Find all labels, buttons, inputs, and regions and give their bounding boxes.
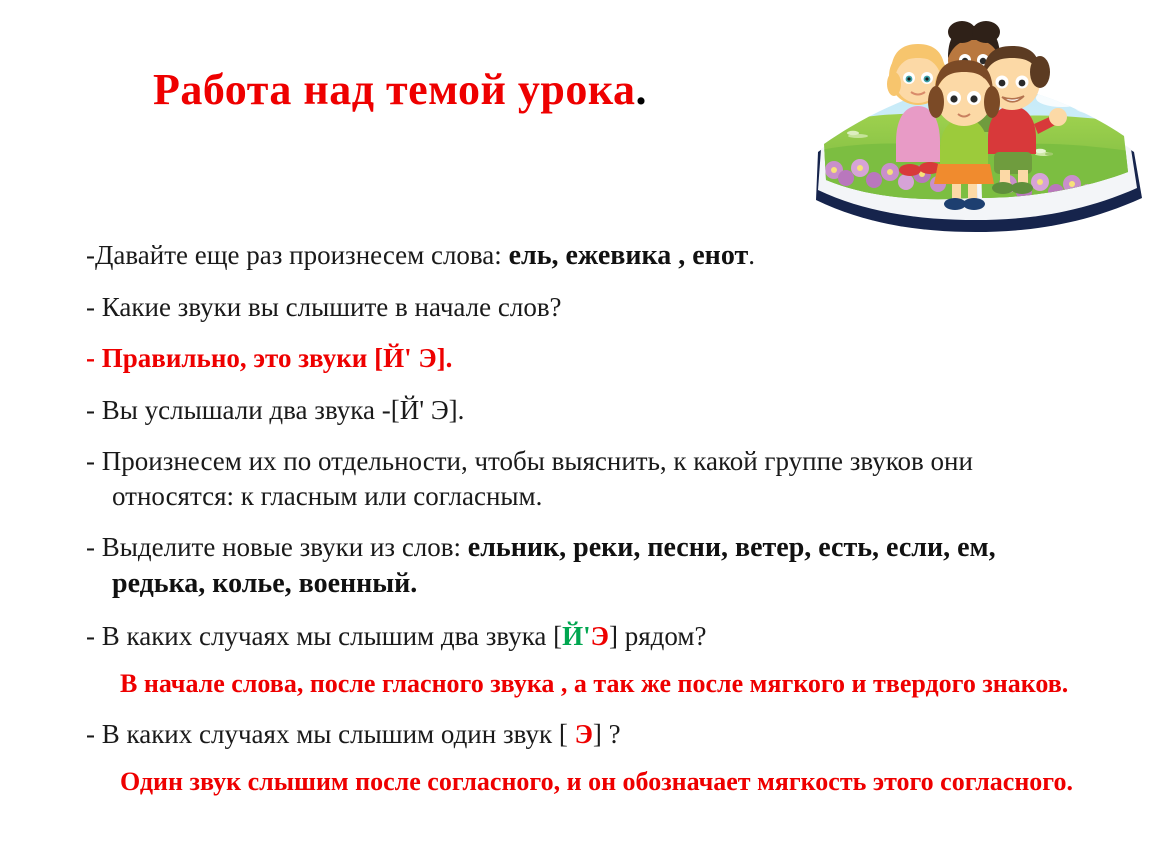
open-book-with-children-illustration: [812, 2, 1150, 234]
answer-beginning-of-word: В начале слова, после гласного звука , а…: [120, 667, 1086, 701]
instruction-highlight-sounds-prefix: - Выделите новые звуки из слов:: [86, 532, 468, 562]
page-title: Работа над темой урока.: [0, 64, 800, 115]
words-list-1: ель, ежевика , енот: [509, 240, 749, 271]
page-title-punctuation: .: [636, 65, 648, 114]
page-title-text: Работа над темой урока: [153, 65, 636, 114]
sound-e-red: Э: [591, 621, 609, 651]
answer-correct-sounds: - Правильно, это звуки [Й' Э].: [86, 341, 1086, 376]
question-one-sound-part-b: ] ?: [593, 719, 621, 749]
answer-after-consonant: Один звук слышим после согласного, и он …: [120, 765, 1086, 799]
question-which-sounds: - Какие звуки вы слышите в начале слов?: [86, 290, 1086, 325]
line-pronounce-words-suffix: .: [748, 240, 755, 270]
question-two-sounds-part-a: - В каких случаях мы слышим два звука [: [86, 621, 562, 651]
question-two-sounds-together: - В каких случаях мы слышим два звука [Й…: [86, 619, 1086, 654]
slide-canvas: Работа над темой урока.: [0, 0, 1150, 864]
sound-yot-green: Й': [562, 621, 591, 651]
sound-e-red-2: Э: [575, 719, 593, 749]
instruction-highlight-sounds: - Выделите новые звуки из слов: ельник, …: [86, 530, 1086, 603]
question-two-sounds-part-b: ] рядом?: [609, 621, 706, 651]
statement-two-sounds: - Вы услышали два звука -[Й' Э].: [86, 393, 1086, 428]
line-pronounce-words: -Давайте еще раз произнесем слова: ель, …: [86, 238, 1086, 274]
line-pronounce-words-prefix: -Давайте еще раз произнесем слова:: [86, 240, 509, 270]
question-one-sound: - В каких случаях мы слышим один звук [ …: [86, 717, 1086, 752]
question-one-sound-part-a: - В каких случаях мы слышим один звук [: [86, 719, 575, 749]
lesson-content: -Давайте еще раз произнесем слова: ель, …: [86, 238, 1086, 814]
instruction-pronounce-separately: - Произнесем их по отдельности, чтобы вы…: [86, 444, 1086, 514]
